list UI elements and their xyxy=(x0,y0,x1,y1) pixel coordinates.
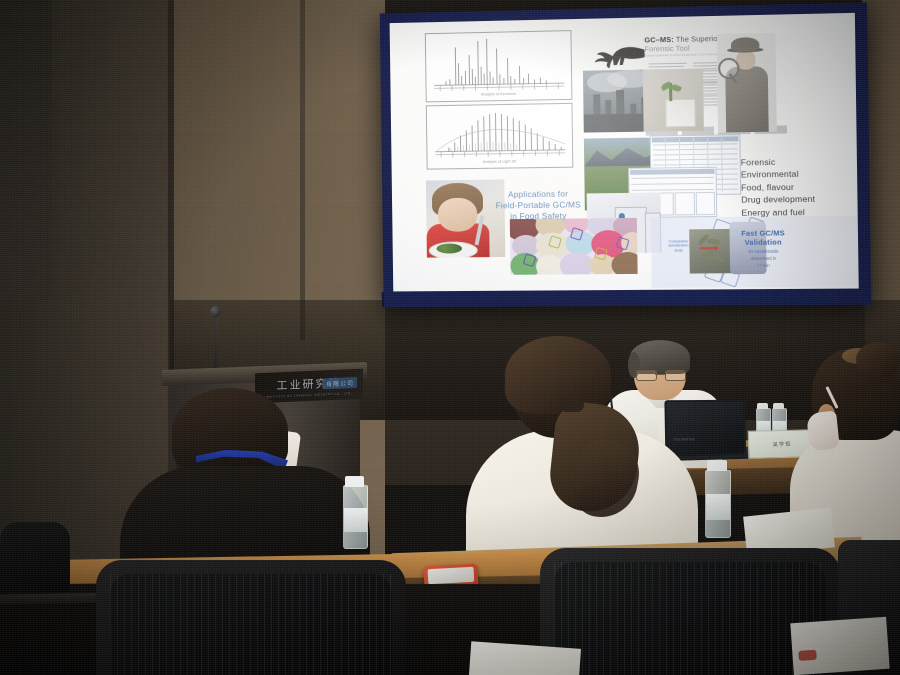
attendee-center-hair-tie xyxy=(560,398,584,412)
paper-handout xyxy=(790,617,889,675)
presenter-eyeglasses xyxy=(636,370,684,379)
deriv-line-3: study xyxy=(657,248,699,253)
heading-line2: Forensic Tool xyxy=(644,43,723,54)
bottle-cap xyxy=(757,403,768,409)
wall-panel xyxy=(0,0,52,300)
chair-backrest xyxy=(554,562,826,675)
derivatization-study-label: Comparative derivatization study xyxy=(657,239,699,253)
hand-with-sprout-photo xyxy=(643,68,704,131)
water-bottle xyxy=(705,470,731,538)
bottle-cap xyxy=(707,460,727,471)
lectern-nameplate: 工业研究院 INSTITUTE OF CHEMICAL INDUSTRY CO.… xyxy=(255,369,363,404)
chair-mesh-pattern xyxy=(110,574,392,675)
application-area-item: Environmental xyxy=(741,168,815,181)
wall-seam-secondary xyxy=(300,0,305,340)
detective-photo xyxy=(717,33,777,133)
attendee-right-hair-bun xyxy=(856,342,900,378)
fast-title-line-2: Validation xyxy=(720,237,807,247)
application-area-item: Drug development xyxy=(741,193,815,206)
office-chair xyxy=(96,560,406,675)
chromatogram-caption: Analysis of Light Oil xyxy=(428,159,573,165)
fast-detail-line-3: <7 min xyxy=(720,263,807,269)
slide-heading: GC–MS: The Superior Forensic Tool Specia… xyxy=(644,34,723,58)
attendee-center-hair xyxy=(505,336,611,414)
application-areas-list: Forensic Environmental Food, flavour Dru… xyxy=(741,155,816,218)
chair-backrest xyxy=(110,574,392,675)
chromatogram-kerosene: Analysis of Kerosene xyxy=(425,30,573,102)
chromatogram-light-oil: Analysis of Light Oil xyxy=(426,103,574,170)
office-chair-background xyxy=(0,522,70,592)
laptop-screen: ThinkPad xyxy=(664,400,746,457)
heading-rest: The Superior xyxy=(674,34,720,44)
fast-detail-line-2: determined in xyxy=(720,256,807,262)
lectern-sign-badge: 有限公司 xyxy=(323,377,357,389)
sample-container xyxy=(665,99,696,128)
conference-room-photo: Analysis of Kerosene xyxy=(0,0,900,675)
lectern-microphone-head xyxy=(210,306,221,317)
application-area-item: Forensic xyxy=(741,155,815,169)
detective-hat xyxy=(731,37,760,52)
fast-detail-line-1: 10 cannabinoids xyxy=(720,248,807,254)
smartphone-screen xyxy=(428,567,475,584)
name-card-text: 吴学恒 xyxy=(773,440,792,447)
pharmaceutical-pills-photo xyxy=(510,218,638,275)
presentation-slide: Analysis of Kerosene xyxy=(390,13,859,292)
laptop-brand-mark: ThinkPad xyxy=(673,436,695,442)
chair-mesh-pattern xyxy=(554,562,826,675)
red-arrow-icon xyxy=(700,247,716,249)
paper-highlight-mark xyxy=(798,650,817,661)
application-area-item: Food, flavour xyxy=(741,180,815,193)
mountain-range xyxy=(584,146,656,167)
bottle-cap xyxy=(773,403,784,409)
bottle-cap xyxy=(345,476,364,487)
applications-line-3: in Food Safety xyxy=(466,210,611,222)
water-bottle xyxy=(343,485,368,549)
projection-screen: Analysis of Kerosene xyxy=(380,2,872,307)
attendee-right-face-mask xyxy=(806,411,840,452)
applications-title: Applications for Field-Portable GC/MS in… xyxy=(466,188,611,222)
fast-gcms-text: Fast GC/MS Validation 10 cannabinoids de… xyxy=(719,228,807,269)
